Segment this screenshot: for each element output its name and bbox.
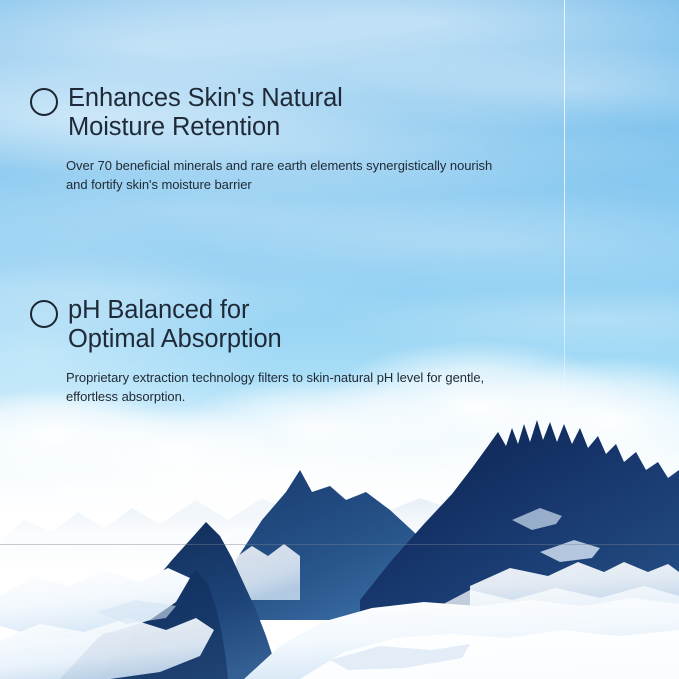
feature-body: Proprietary extraction technology filter… <box>66 368 484 406</box>
feature-item-ph-balanced: pH Balanced for Optimal Absorption Propr… <box>30 296 484 406</box>
circle-outline-icon <box>30 88 58 116</box>
feature-callout-image: Enhances Skin's Natural Moisture Retenti… <box>0 0 679 679</box>
feature-body: Over 70 beneficial minerals and rare ear… <box>66 156 492 194</box>
vertical-seam-artifact <box>564 0 565 424</box>
feature-text-group: Enhances Skin's Natural Moisture Retenti… <box>68 84 492 194</box>
feature-item-moisture-retention: Enhances Skin's Natural Moisture Retenti… <box>30 84 492 194</box>
horizontal-seam-artifact <box>0 544 679 545</box>
feature-text-group: pH Balanced for Optimal Absorption Propr… <box>68 296 484 406</box>
feature-heading: Enhances Skin's Natural Moisture Retenti… <box>68 84 492 142</box>
circle-outline-icon <box>30 300 58 328</box>
feature-heading: pH Balanced for Optimal Absorption <box>68 296 484 354</box>
